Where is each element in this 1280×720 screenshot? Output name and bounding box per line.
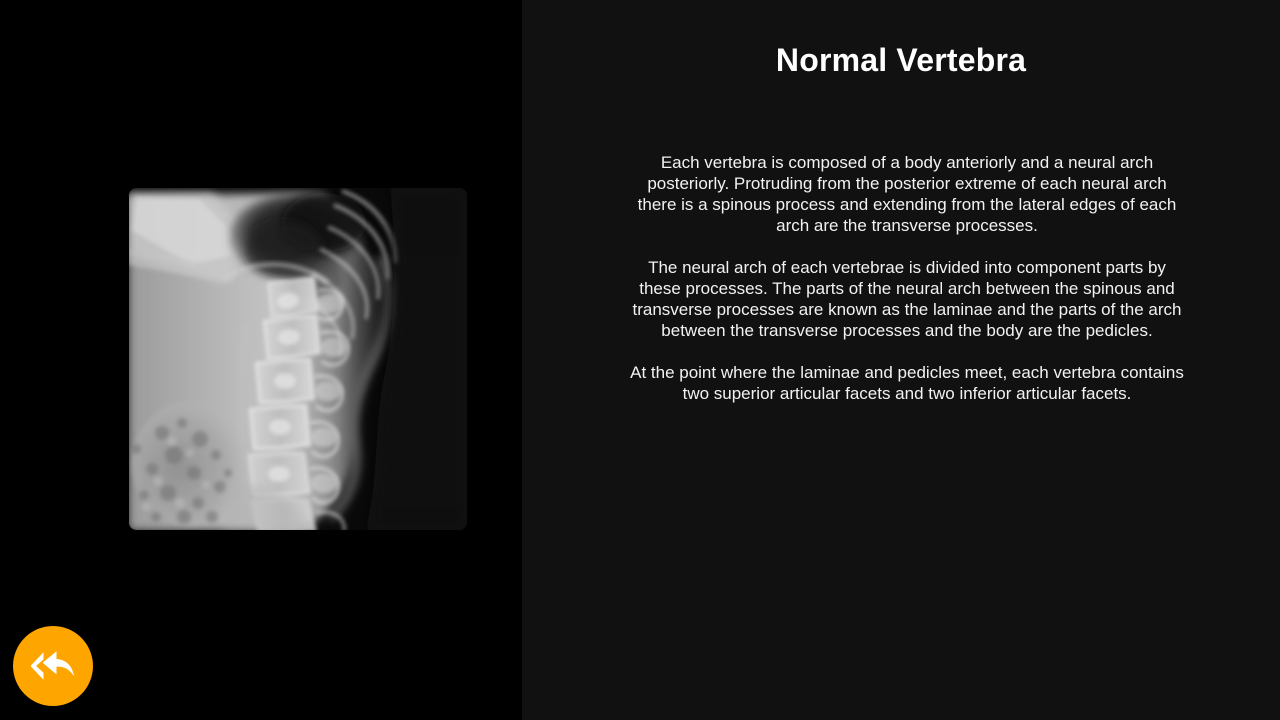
image-panel bbox=[0, 0, 521, 720]
body-paragraph-1: Each vertebra is composed of a body ante… bbox=[627, 152, 1187, 236]
text-panel: Normal Vertebra Each vertebra is compose… bbox=[522, 0, 1280, 720]
reply-all-back-arrow-icon bbox=[31, 649, 75, 683]
back-button[interactable] bbox=[13, 626, 93, 706]
page-title: Normal Vertebra bbox=[522, 40, 1280, 80]
xray-image[interactable] bbox=[128, 187, 468, 531]
body-paragraph-3: At the point where the laminae and pedic… bbox=[627, 362, 1187, 404]
slide-body: Each vertebra is composed of a body ante… bbox=[627, 152, 1187, 404]
body-paragraph-2: The neural arch of each vertebrae is div… bbox=[627, 257, 1187, 341]
xray-image-graphic bbox=[128, 187, 468, 531]
slide-viewer: Normal Vertebra Each vertebra is compose… bbox=[0, 0, 1280, 720]
